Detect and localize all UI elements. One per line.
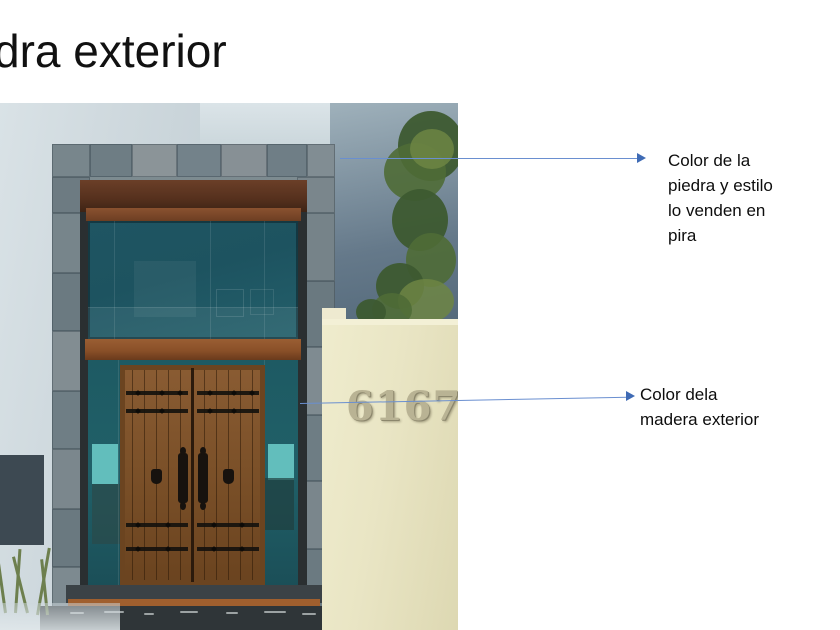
annotation-arrow-head-stone	[637, 153, 646, 163]
door-knocker-left[interactable]	[151, 469, 162, 484]
house-entrance-photo: 6167	[0, 103, 458, 630]
door-knocker-right[interactable]	[223, 469, 234, 484]
mid-wood-beam	[85, 339, 301, 360]
house-number: 6167	[346, 383, 458, 430]
door-center-split	[191, 368, 194, 582]
wooden-double-door	[120, 365, 265, 585]
door-handle-left[interactable]	[178, 453, 188, 503]
annotation-stone-line-2: piedra y estilo	[668, 173, 838, 198]
foreground-blur	[0, 603, 120, 630]
door-handle-right-cap	[200, 502, 206, 510]
annotation-wood-line-2: madera exterior	[640, 407, 830, 432]
annotation-arrow-line-stone	[340, 158, 638, 159]
tree-foliage	[410, 129, 454, 169]
annotation-stone-line-1: Color de la	[668, 148, 838, 173]
annotation-text-stone: Color de la piedra y estilo lo venden en…	[668, 148, 838, 248]
cream-perimeter-wall	[322, 325, 458, 630]
wood-lintel-face	[86, 208, 301, 221]
annotation-wood-line-1: Color dela	[640, 382, 830, 407]
door-handle-right[interactable]	[198, 453, 208, 503]
annotation-stone-line-3: lo venden en	[668, 198, 838, 223]
annotation-text-wood: Color dela madera exterior	[640, 382, 830, 432]
door-handle-left-cap	[180, 502, 186, 510]
annotation-arrow-head-wood	[626, 391, 635, 401]
annotation-stone-line-4: pira	[668, 223, 838, 248]
upper-glass-panel	[88, 221, 298, 339]
foreground-dark-object	[0, 455, 44, 545]
door-handle-left-cap	[180, 447, 186, 455]
slide-title: dra exterior	[0, 28, 227, 74]
door-handle-right-cap	[200, 447, 206, 455]
